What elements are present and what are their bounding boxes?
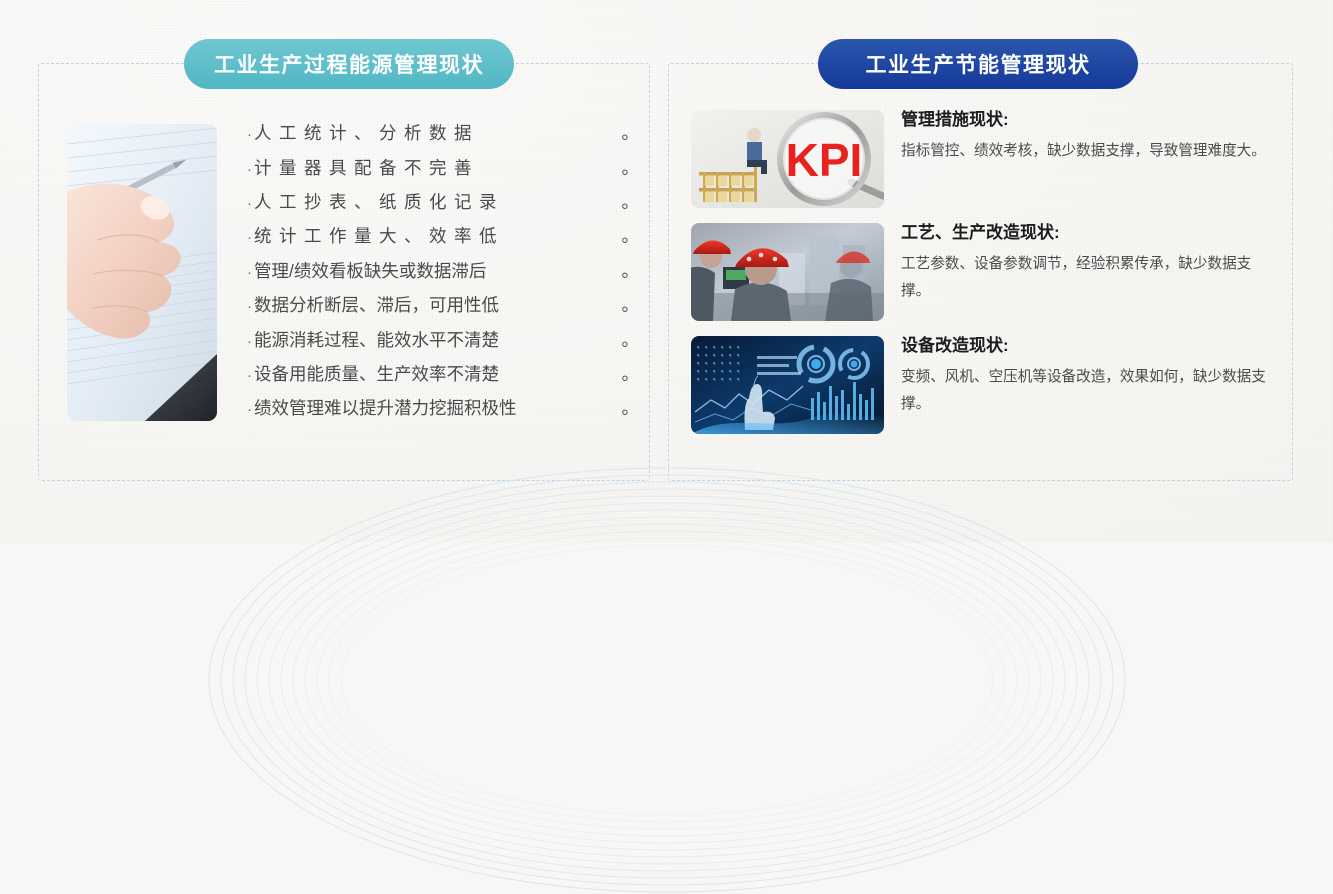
bullet-marker-icon: · [247, 188, 252, 220]
list-item: KPI [691, 110, 1274, 208]
item-title: 工艺、生产改造现状: [901, 223, 1274, 243]
list-item: · 计量器具配备不完善 。 [247, 152, 639, 186]
list-item: · 统计工作量大、效率低 。 [247, 220, 639, 254]
list-item: 工艺、生产改造现状: 工艺参数、设备参数调节，经验积累传承，缺少数据支撑。 [691, 223, 1274, 321]
bullet-marker-icon: · [247, 154, 252, 186]
bullet-marker-icon: · [247, 360, 252, 392]
kpi-thumb-label: KPI [786, 134, 863, 186]
management-measures-text-block: 管理措施现状: 指标管控、绩效考核，缺少数据支撑，导致管理难度大。 [901, 110, 1274, 165]
bullet-marker-icon: · [247, 291, 252, 323]
list-item: · 管理/绩效看板缺失或数据滞后 。 [247, 255, 639, 289]
bullet-marker-icon: · [247, 222, 252, 254]
left-panel-energy-management: 工业生产过程能源管理现状 [38, 63, 650, 481]
list-item: 设备改造现状: 变频、风机、空压机等设备改造，效果如何，缺少数据支撑。 [691, 336, 1274, 434]
bullet-marker-icon: · [247, 394, 252, 426]
right-panel-energy-saving-management: 工业生产节能管理现状 [668, 63, 1293, 481]
left-panel-bullet-list: · 人工统计、分析数据 。 · 计量器具配备不完善 。 · 人工抄表、纸质化记录… [247, 117, 649, 427]
item-description: 工艺参数、设备参数调节，经验积累传承，缺少数据支撑。 [901, 251, 1274, 305]
bullet-marker-icon: · [247, 119, 252, 151]
bullet-marker-icon: · [247, 257, 252, 289]
hand-writing-on-paper-photo [67, 124, 217, 421]
item-title: 设备改造现状: [901, 336, 1274, 356]
kpi-magnifier-photo: KPI [691, 110, 884, 208]
process-production-upgrade-text-block: 工艺、生产改造现状: 工艺参数、设备参数调节，经验积累传承，缺少数据支撑。 [901, 223, 1274, 305]
concentric-arc-decoration [207, 464, 1127, 894]
item-title: 管理措施现状: [901, 110, 1274, 130]
list-item: · 能源消耗过程、能效水平不清楚 。 [247, 324, 639, 358]
factory-workers-red-helmets-photo [691, 223, 884, 321]
list-item: · 绩效管理难以提升潜力挖掘积极性 。 [247, 392, 639, 426]
left-panel-body: · 人工统计、分析数据 。 · 计量器具配备不完善 。 · 人工抄表、纸质化记录… [39, 64, 649, 480]
digital-dashboard-photo [691, 336, 884, 434]
list-item: · 人工抄表、纸质化记录 。 [247, 186, 639, 220]
bullet-marker-icon: · [247, 326, 252, 358]
list-item: · 人工统计、分析数据 。 [247, 117, 639, 151]
list-item: · 数据分析断层、滞后，可用性低 。 [247, 289, 639, 323]
item-description: 变频、风机、空压机等设备改造，效果如何，缺少数据支撑。 [901, 364, 1274, 418]
equipment-upgrade-text-block: 设备改造现状: 变频、风机、空压机等设备改造，效果如何，缺少数据支撑。 [901, 336, 1274, 418]
right-panel-body: KPI [669, 64, 1292, 480]
item-description: 指标管控、绩效考核，缺少数据支撑，导致管理难度大。 [901, 138, 1274, 165]
list-item: · 设备用能质量、生产效率不清楚 。 [247, 358, 639, 392]
